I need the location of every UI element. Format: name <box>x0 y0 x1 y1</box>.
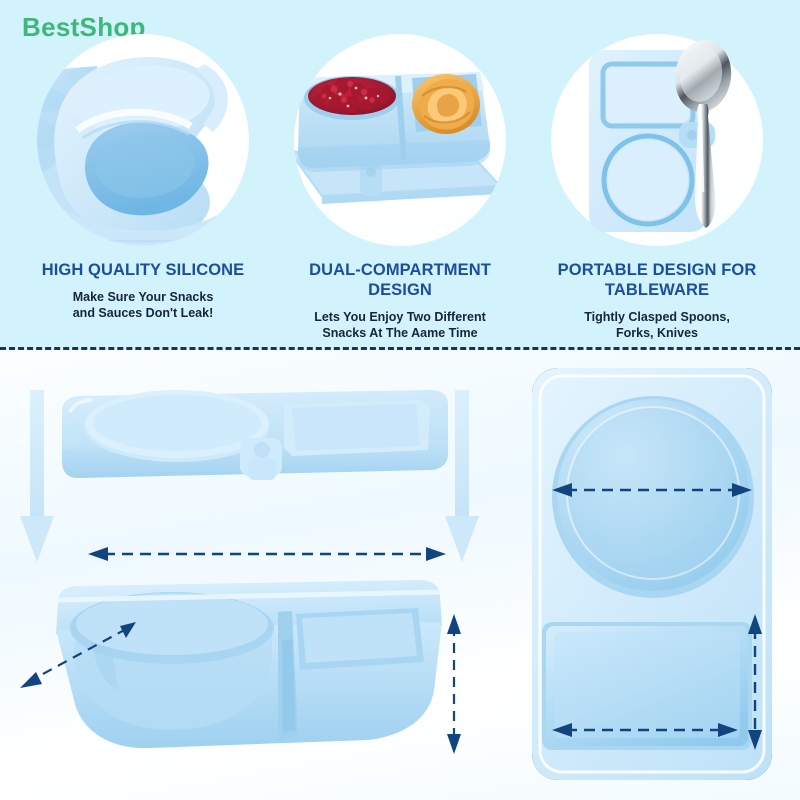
product-infographic: BestShop <box>0 0 800 800</box>
lid-perspective-view <box>62 390 448 480</box>
feature-subtitle-line1: Tightly Clasped Spoons, <box>524 309 790 325</box>
feature-block-portable: PORTABLE DESIGN FOR TABLEWARE Tightly Cl… <box>524 34 790 341</box>
feature-subtitle: Tightly Clasped Spoons, Forks, Knives <box>524 309 790 341</box>
feature-title-line1: PORTABLE DESIGN FOR <box>524 260 790 280</box>
feature-title-text: HIGH QUALITY SILICONE <box>42 261 245 279</box>
feature-title: HIGH QUALITY SILICONE <box>10 260 276 280</box>
feature-subtitle-line1: Lets You Enjoy Two Different <box>267 309 533 325</box>
feature-subtitle-line2: and Sauces Don't Leak! <box>10 305 276 321</box>
feature-subtitle-line2: Forks, Knives <box>524 325 790 341</box>
feature-image-silicone <box>37 34 249 246</box>
features-section: BestShop <box>0 0 800 348</box>
container-with-food-illustration <box>294 34 506 246</box>
folded-silicone-illustration <box>37 34 249 246</box>
dimensions-section: 14cm/5.6in 8.6cm/3.4in 3.3cm/1.3in <box>0 350 800 800</box>
feature-title: PORTABLE DESIGN FOR TABLEWARE <box>524 260 790 300</box>
feature-title-line2: TABLEWARE <box>524 280 790 300</box>
feature-subtitle: Lets You Enjoy Two Different Snacks At T… <box>267 309 533 341</box>
lid-with-spoon-illustration <box>551 34 763 246</box>
assembly-arrow-right <box>445 390 479 562</box>
assembly-arrow-left <box>20 390 54 562</box>
exploded-side-view-diagram <box>0 350 510 800</box>
feature-title: DUAL-COMPARTMENT DESIGN <box>267 260 533 300</box>
feature-subtitle: Make Sure Your Snacks and Sauces Don't L… <box>10 289 276 321</box>
base-front-view <box>56 580 442 748</box>
feature-image-dual-compartment <box>294 34 506 246</box>
feature-subtitle-line2: Snacks At The Aame Time <box>267 325 533 341</box>
feature-title-line2: DESIGN <box>267 280 533 300</box>
feature-block-dual-compartment: DUAL-COMPARTMENT DESIGN Lets You Enjoy T… <box>267 34 533 341</box>
top-down-view-diagram <box>510 350 800 800</box>
feature-image-portable <box>551 34 763 246</box>
feature-subtitle-line1: Make Sure Your Snacks <box>10 289 276 305</box>
feature-title-line1: DUAL-COMPARTMENT <box>267 260 533 280</box>
feature-block-silicone: HIGH QUALITY SILICONE Make Sure Your Sna… <box>10 34 276 321</box>
